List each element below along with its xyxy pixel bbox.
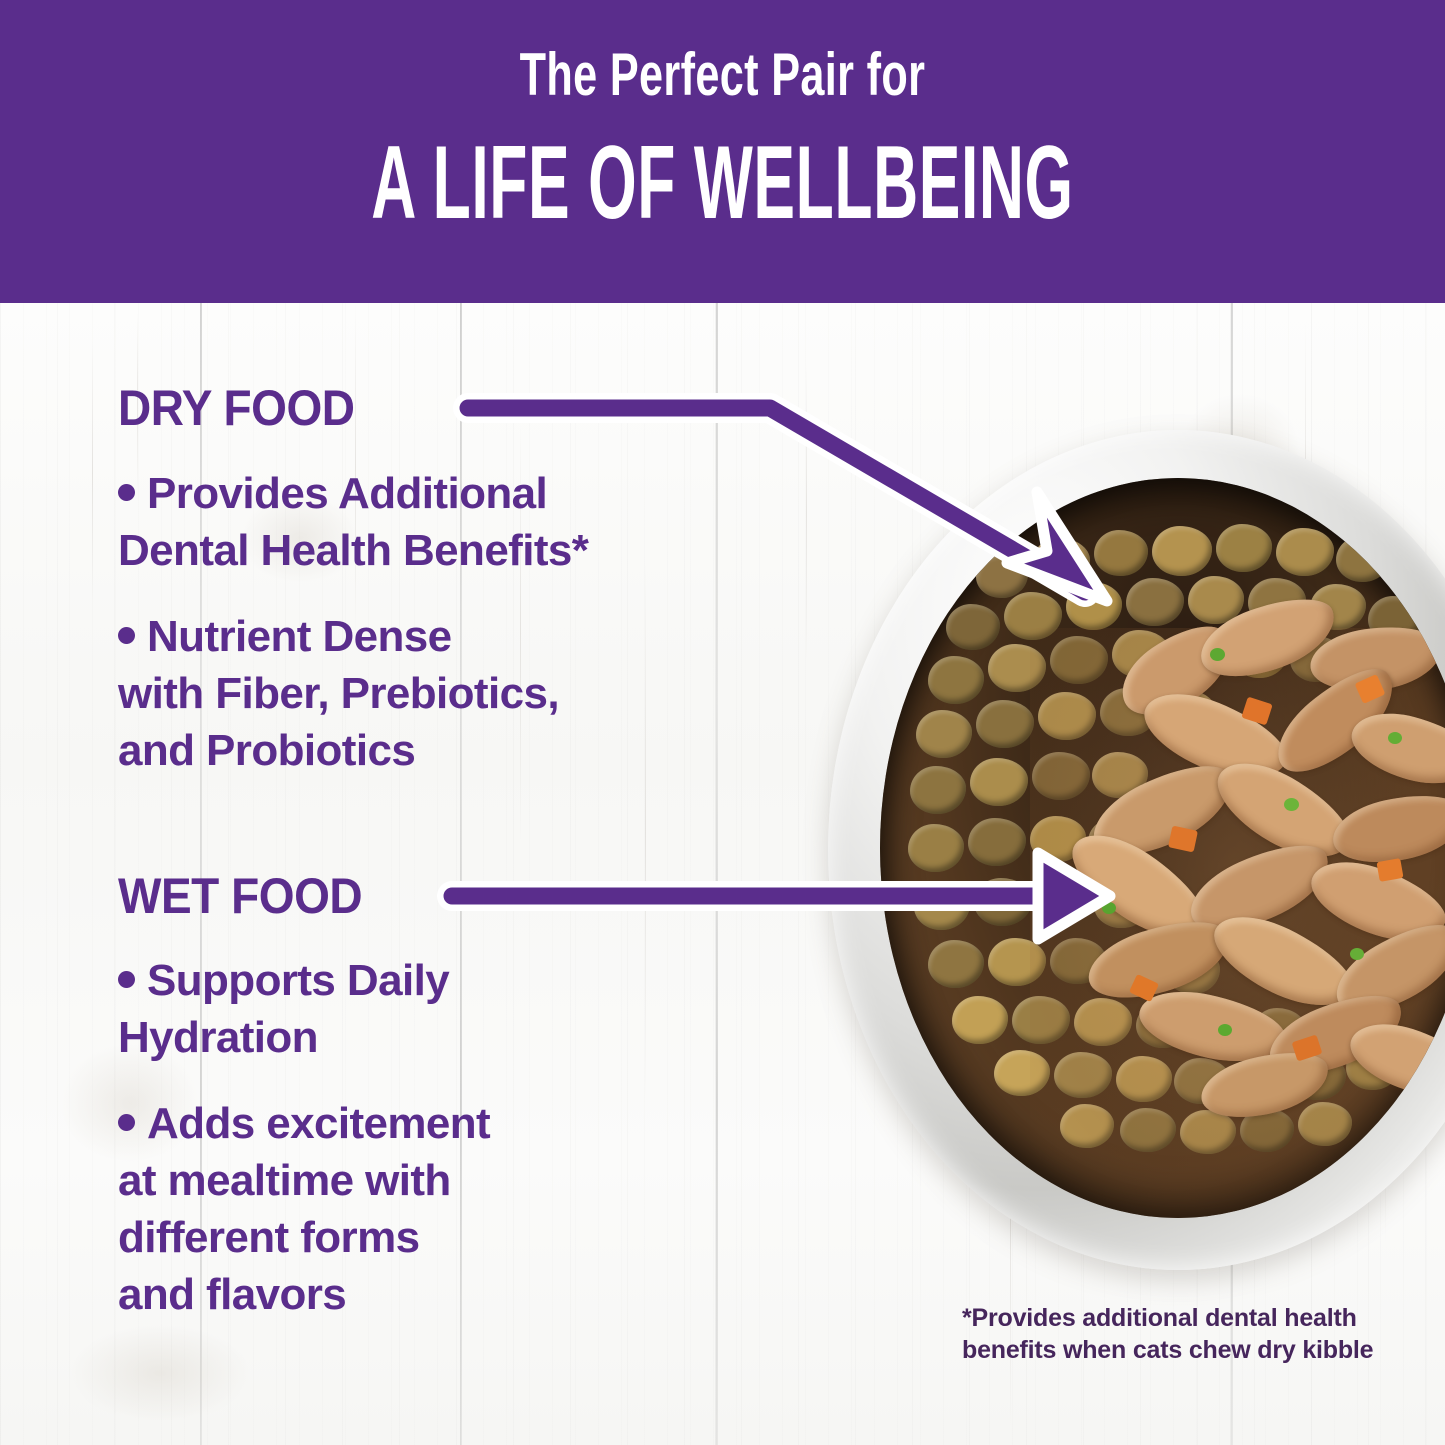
kibble-piece bbox=[994, 1050, 1050, 1096]
kibble-piece bbox=[1094, 530, 1148, 576]
bullet-dry-2-line2: with Fiber, Prebiotics, bbox=[118, 669, 559, 718]
kibble-piece bbox=[1074, 998, 1132, 1046]
kibble-piece bbox=[1038, 692, 1096, 740]
kibble-piece bbox=[1116, 1056, 1172, 1102]
bullet-dry-1-line1: Provides Additional bbox=[147, 469, 547, 518]
kibble-piece bbox=[916, 710, 972, 758]
kibble-piece bbox=[1392, 550, 1445, 596]
kibble-piece bbox=[1032, 752, 1090, 800]
pea-bit bbox=[1210, 648, 1225, 661]
footnote-line2: benefits when cats chew dry kibble bbox=[962, 1336, 1373, 1364]
kibble-piece bbox=[976, 554, 1028, 598]
kibble-piece bbox=[1060, 1104, 1114, 1148]
kibble-piece bbox=[1066, 582, 1122, 630]
footnote: *Provides additional dental health benef… bbox=[962, 1302, 1412, 1366]
kibble-piece bbox=[1054, 1052, 1112, 1098]
header-headline: A LIFE OF WELLBEING bbox=[289, 128, 1156, 238]
bowl-interior bbox=[880, 478, 1445, 1218]
kibble-piece bbox=[976, 700, 1034, 748]
kibble-piece bbox=[1120, 1108, 1176, 1152]
kibble-piece bbox=[952, 996, 1008, 1044]
kibble-piece bbox=[1126, 578, 1184, 626]
wood-smudge bbox=[70, 1323, 250, 1423]
bullet-dry-2-line1: Nutrient Dense bbox=[147, 612, 452, 661]
kibble-piece bbox=[974, 878, 1032, 926]
pea-bit bbox=[1102, 902, 1116, 914]
kibble-piece bbox=[1298, 1102, 1352, 1146]
kibble-piece bbox=[1216, 524, 1272, 572]
bullet-wet-2-line2: at mealtime with bbox=[118, 1156, 451, 1205]
header-eyebrow: The Perfect Pair for bbox=[202, 44, 1242, 106]
bullet-dry-1: Provides Additional Dental Health Benefi… bbox=[118, 465, 818, 579]
bullet-wet-2-line1: Adds excitement bbox=[147, 1099, 490, 1148]
bullet-dot bbox=[118, 971, 135, 988]
pea-bit bbox=[1218, 1024, 1232, 1036]
carrot-bit bbox=[1168, 826, 1198, 853]
pea-bit bbox=[1388, 732, 1402, 744]
kibble-piece bbox=[1012, 996, 1070, 1044]
bullet-wet-2-line3: different forms bbox=[118, 1213, 419, 1262]
kibble-piece bbox=[1152, 526, 1212, 576]
kibble-piece bbox=[928, 656, 984, 704]
kibble-piece bbox=[928, 940, 984, 988]
bullet-wet-2-line4: and flavors bbox=[118, 1270, 346, 1319]
section-title-dry-food: DRY FOOD bbox=[118, 382, 355, 434]
bullet-dot bbox=[118, 1114, 135, 1131]
carrot-bit bbox=[1376, 858, 1403, 882]
kibble-piece bbox=[1036, 878, 1092, 924]
bullet-wet-1-line2: Hydration bbox=[118, 1013, 318, 1062]
kibble-piece bbox=[1180, 1110, 1236, 1154]
kibble-piece bbox=[908, 824, 964, 872]
pea-bit bbox=[1350, 948, 1364, 960]
kibble-piece bbox=[946, 604, 1000, 650]
bullet-wet-2: Adds excitement at mealtime with differe… bbox=[118, 1095, 818, 1323]
kibble-piece bbox=[910, 766, 966, 814]
kibble-piece bbox=[988, 644, 1046, 692]
bullet-dry-2: Nutrient Dense with Fiber, Prebiotics, a… bbox=[118, 608, 818, 779]
kibble-piece bbox=[968, 818, 1026, 866]
kibble-piece bbox=[988, 938, 1046, 986]
wood-grain bbox=[92, 343, 93, 603]
kibble-piece bbox=[914, 882, 970, 930]
product-feature-poster: The Perfect Pair for A LIFE OF WELLBEING bbox=[0, 0, 1445, 1445]
kibble-piece bbox=[1032, 538, 1090, 586]
header-band: The Perfect Pair for A LIFE OF WELLBEING bbox=[0, 0, 1445, 303]
kibble-piece bbox=[1004, 592, 1062, 640]
bullet-dry-1-line2: Dental Health Benefits* bbox=[118, 526, 588, 575]
bullet-dot bbox=[118, 484, 135, 501]
kibble-piece bbox=[970, 758, 1028, 806]
bullet-wet-1: Supports Daily Hydration bbox=[118, 952, 818, 1066]
kibble-piece bbox=[1050, 636, 1108, 684]
bullet-dot bbox=[118, 627, 135, 644]
kibble-piece bbox=[1276, 528, 1334, 576]
bullet-wet-1-line1: Supports Daily bbox=[147, 956, 449, 1005]
bullet-dry-2-line3: and Probiotics bbox=[118, 726, 415, 775]
section-title-wet-food: WET FOOD bbox=[118, 870, 362, 922]
footnote-line1: *Provides additional dental health bbox=[962, 1304, 1357, 1332]
pea-bit bbox=[1284, 798, 1299, 811]
pet-food-bowl-photo bbox=[828, 430, 1445, 1270]
